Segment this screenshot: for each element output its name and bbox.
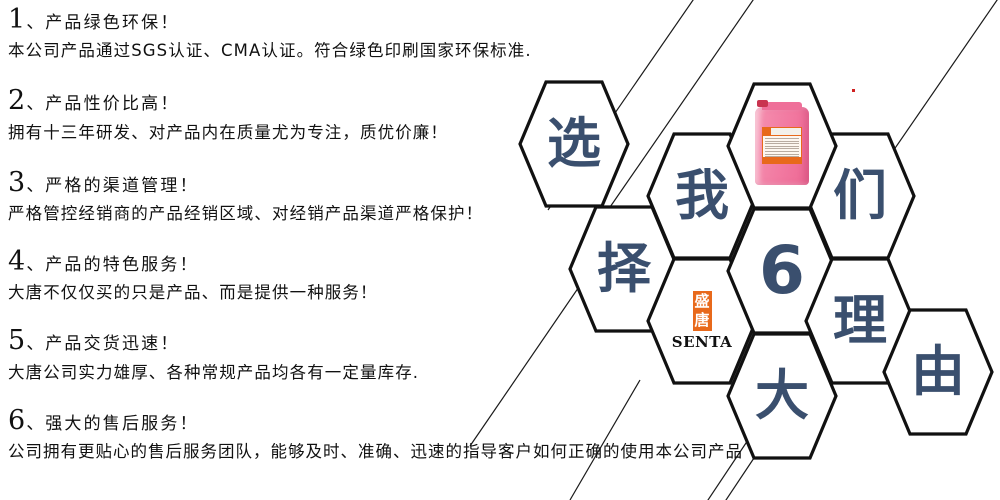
senta-logo: 盛 唐 SENTA bbox=[672, 291, 732, 351]
reason-body-6: 公司拥有更贴心的售后服务团队，能够及时、准确、迅速的指导客户如何正确的使用本公司… bbox=[8, 438, 668, 462]
reason-body-1: 本公司产品通过SGS认证、CMA认证。符合绿色印刷国家环保标准. bbox=[8, 37, 668, 61]
reason-heading-4: 产品的特色服务！ bbox=[45, 257, 199, 275]
logo-mark-box: 盛 唐 bbox=[693, 291, 712, 331]
promo-banner: 1 、 产品绿色环保！ 本公司产品通过SGS认证、CMA认证。符合绿色印刷国家环… bbox=[0, 0, 1000, 500]
reason-number-5: 5 bbox=[8, 327, 25, 355]
reason-item-4: 4 、 产品的特色服务！ 大唐不仅仅买的只是产品、而是提供一种服务！ bbox=[8, 248, 668, 303]
hexagon-character-you: 由 bbox=[911, 345, 965, 399]
reason-separator-6: 、 bbox=[26, 415, 44, 434]
reason-title-1: 1 、 产品绿色环保！ bbox=[8, 6, 668, 34]
product-label-swatch bbox=[763, 128, 771, 135]
hexagon-product bbox=[726, 82, 838, 210]
reason-number-4: 4 bbox=[8, 248, 25, 276]
reason-number-6: 6 bbox=[8, 407, 25, 435]
reason-separator-5: 、 bbox=[26, 335, 44, 354]
reason-separator-3: 、 bbox=[26, 177, 44, 196]
reason-separator-4: 、 bbox=[26, 256, 44, 275]
reason-title-5: 5 、 产品交货迅速！ bbox=[8, 327, 668, 355]
logo-char-tang: 唐 bbox=[693, 311, 712, 330]
reason-separator-1: 、 bbox=[26, 14, 44, 33]
reasons-list: 1 、 产品绿色环保！ 本公司产品通过SGS认证、CMA认证。符合绿色印刷国家环… bbox=[8, 6, 668, 474]
reason-item-6: 6 、 强大的售后服务！ 公司拥有更贴心的售后服务团队，能够及时、准确、迅速的指… bbox=[8, 407, 668, 462]
hexagon-you: 由 bbox=[882, 308, 994, 436]
product-label-header bbox=[763, 128, 801, 136]
reason-number-1: 1 bbox=[8, 6, 25, 34]
reason-number-3: 3 bbox=[8, 169, 25, 197]
product-label bbox=[762, 127, 802, 164]
hexagon-character-wo: 我 bbox=[675, 169, 729, 223]
logo-char-sheng: 盛 bbox=[693, 292, 712, 311]
red-dot-mark bbox=[852, 89, 855, 92]
hexagon-character-li: 理 bbox=[833, 294, 887, 348]
reason-heading-6: 强大的售后服务！ bbox=[45, 416, 199, 434]
reason-heading-2: 产品性价比高！ bbox=[45, 96, 179, 114]
reason-item-5: 5 、 产品交货迅速！ 大唐公司实力雄厚、各种常规产品均各有一定量库存. bbox=[8, 327, 668, 382]
reason-separator-2: 、 bbox=[26, 95, 44, 114]
reason-item-1: 1 、 产品绿色环保！ 本公司产品通过SGS认证、CMA认证。符合绿色印刷国家环… bbox=[8, 6, 668, 61]
reason-body-5: 大唐公司实力雄厚、各种常规产品均各有一定量库存. bbox=[8, 359, 668, 383]
reason-heading-3: 严格的渠道管理！ bbox=[45, 178, 199, 196]
hexagon-character-six: 6 bbox=[759, 238, 805, 304]
reason-title-6: 6 、 强大的售后服务！ bbox=[8, 407, 668, 435]
reason-number-2: 2 bbox=[8, 87, 25, 115]
logo-wordmark: SENTA bbox=[672, 333, 732, 351]
hexagon-character-da: 大 bbox=[755, 369, 809, 423]
reason-body-2: 拥有十三年研发、对产品内在质量尤为专注，质优价廉！ bbox=[8, 119, 668, 143]
reason-body-4: 大唐不仅仅买的只是产品、而是提供一种服务！ bbox=[8, 279, 668, 303]
reason-title-3: 3 、 严格的渠道管理！ bbox=[8, 169, 668, 197]
product-drum-image bbox=[755, 107, 809, 185]
hexagon-character-men: 们 bbox=[833, 169, 887, 223]
reason-item-3: 3 、 严格的渠道管理！ 严格管控经销商的产品经销区域、对经销产品渠道严格保护！ bbox=[8, 169, 668, 224]
reason-body-3: 严格管控经销商的产品经销区域、对经销产品渠道严格保护！ bbox=[8, 200, 668, 224]
product-label-footer bbox=[763, 157, 801, 163]
reason-heading-5: 产品交货迅速！ bbox=[45, 336, 179, 354]
reason-item-2: 2 、 产品性价比高！ 拥有十三年研发、对产品内在质量尤为专注，质优价廉！ bbox=[8, 87, 668, 142]
reason-title-2: 2 、 产品性价比高！ bbox=[8, 87, 668, 115]
reason-heading-1: 产品绿色环保！ bbox=[45, 15, 179, 33]
reason-title-4: 4 、 产品的特色服务！ bbox=[8, 248, 668, 276]
